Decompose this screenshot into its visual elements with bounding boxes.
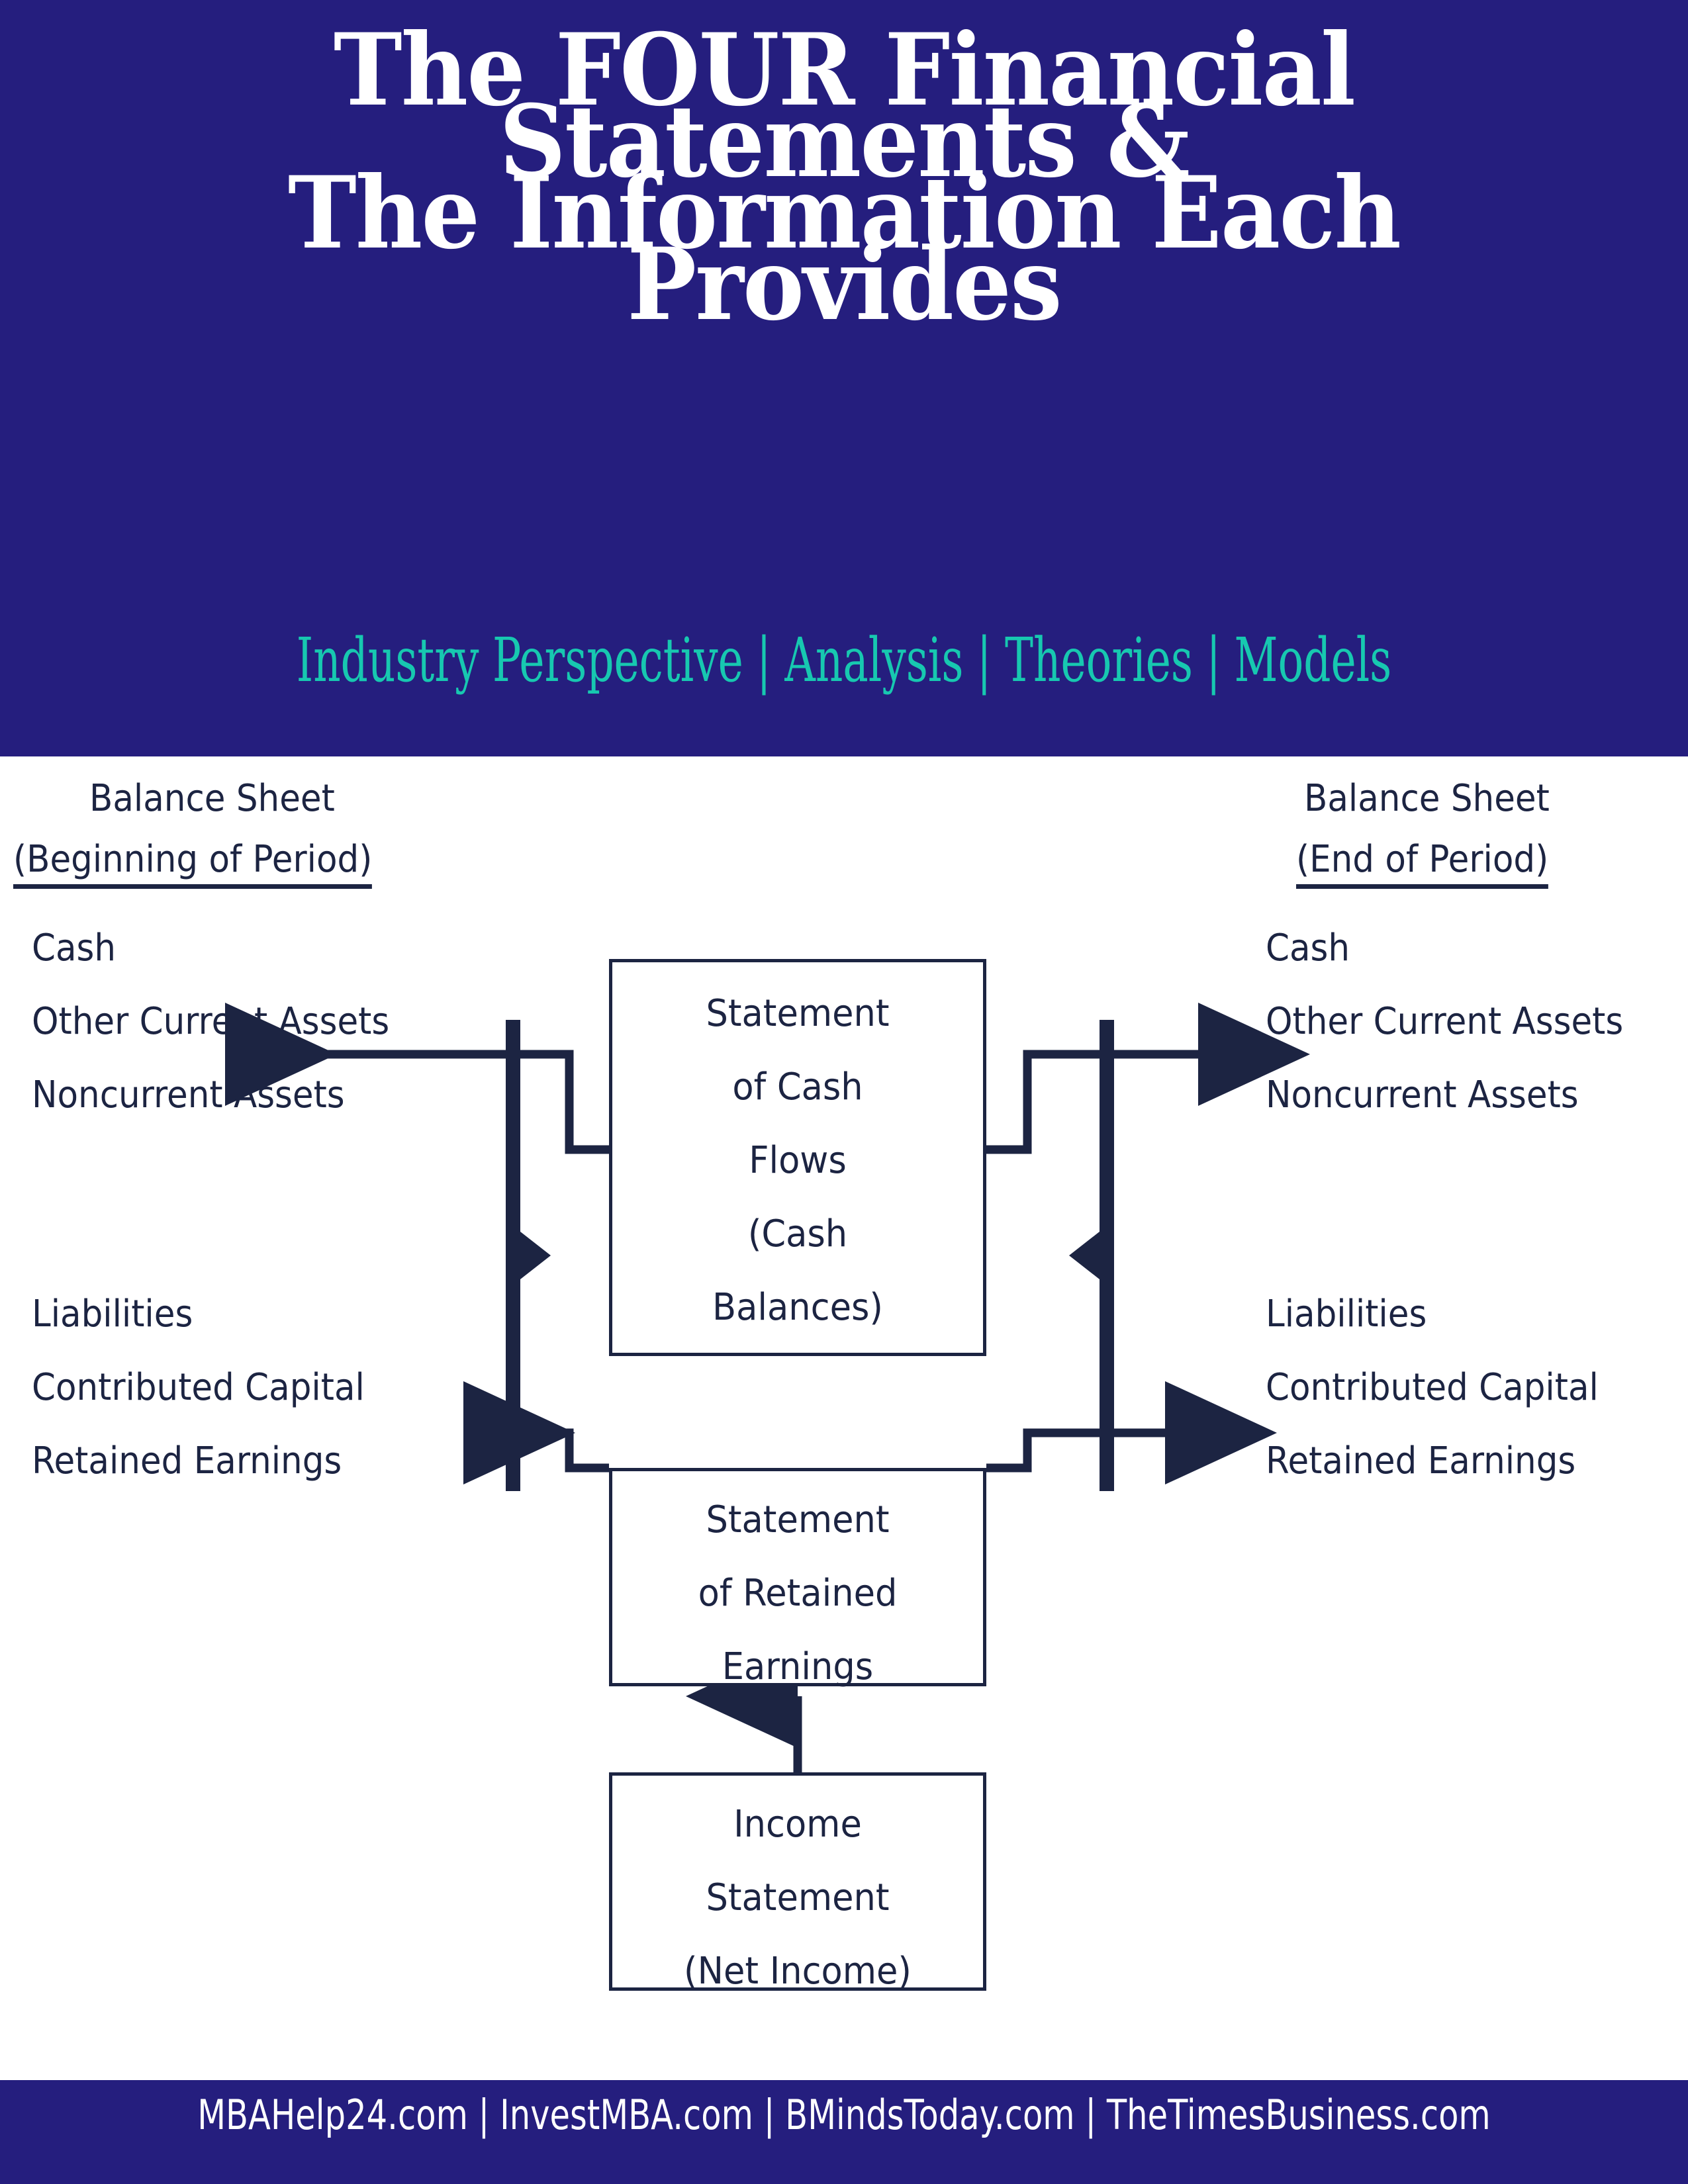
bs-right-item-contributed-capital: Contributed Capital <box>1266 1369 1599 1406</box>
bs-right-item-other-current-assets: Other Current Assets <box>1266 1003 1623 1040</box>
arrow-retained-to-left-retained-earnings <box>463 1433 609 1468</box>
title-line-4: Provides <box>59 249 1629 320</box>
arrow-cashflows-to-right-cash <box>986 1054 1198 1150</box>
bs-left-item-noncurrent-assets: Noncurrent Assets <box>32 1077 345 1114</box>
income-line-1: Income <box>624 1788 972 1861</box>
footer-site-links: MBAHelp24.com | InvestMBA.com | BMindsTo… <box>169 2092 1519 2138</box>
income-line-2: Statement <box>624 1861 972 1934</box>
cashflows-line-4: (Cash <box>624 1197 972 1271</box>
header-subtitle: Industry Perspective | Analysis | Theori… <box>254 627 1435 694</box>
cashflows-line-1: Statement <box>624 977 972 1050</box>
bs-left-item-other-current-assets: Other Current Assets <box>32 1003 389 1040</box>
page-title: The FOUR Financial Statements & The Info… <box>0 23 1688 320</box>
bs-left-item-retained-earnings: Retained Earnings <box>32 1443 342 1480</box>
box-income-statement: Income Statement (Net Income) <box>609 1772 986 1991</box>
retained-line-1: Statement <box>624 1483 972 1557</box>
balance-sheet-beginning-heading-line2: (Beginning of Period) <box>13 841 372 889</box>
bs-left-item-cash: Cash <box>32 930 116 967</box>
vertical-bar-right-notch <box>1069 1232 1100 1279</box>
retained-line-2: of Retained <box>624 1557 972 1630</box>
arrow-retained-to-right-retained-earnings <box>986 1433 1165 1468</box>
retained-line-3: Earnings <box>624 1630 972 1704</box>
header-band: The FOUR Financial Statements & The Info… <box>0 0 1688 756</box>
box-statement-of-cash-flows: Statement of Cash Flows (Cash Balances) <box>609 959 986 1356</box>
box-statement-of-retained-earnings: Statement of Retained Earnings <box>609 1468 986 1686</box>
cashflows-line-5: Balances) <box>624 1271 972 1344</box>
bs-right-item-noncurrent-assets: Noncurrent Assets <box>1266 1077 1579 1114</box>
vertical-bar-left-notch <box>520 1232 551 1279</box>
bs-right-item-cash: Cash <box>1266 930 1350 967</box>
cashflows-line-2: of Cash <box>624 1050 972 1124</box>
balance-sheet-beginning-heading-line1: Balance Sheet <box>89 780 335 817</box>
financial-statements-diagram: Balance Sheet (Beginning of Period) Cash… <box>0 756 1688 2080</box>
infographic-page: The FOUR Financial Statements & The Info… <box>0 0 1688 2184</box>
income-line-3: (Net Income) <box>624 1934 972 2008</box>
cashflows-line-3: Flows <box>624 1124 972 1197</box>
footer-band: MBAHelp24.com | InvestMBA.com | BMindsTo… <box>0 2080 1688 2184</box>
balance-sheet-end-heading-line1: Balance Sheet <box>1304 780 1550 817</box>
bs-right-item-liabilities: Liabilities <box>1266 1296 1427 1333</box>
balance-sheet-end-heading-line2: (End of Period) <box>1296 841 1548 889</box>
bs-left-item-contributed-capital: Contributed Capital <box>32 1369 365 1406</box>
bs-right-item-retained-earnings: Retained Earnings <box>1266 1443 1575 1480</box>
bs-left-item-liabilities: Liabilities <box>32 1296 193 1333</box>
